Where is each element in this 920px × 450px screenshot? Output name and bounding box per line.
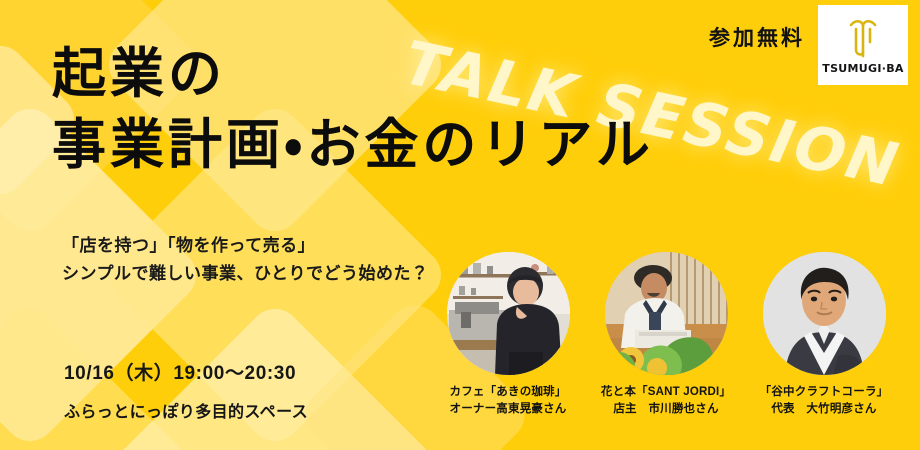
headline-line-2: 事業計画・お金のリアル [52, 117, 732, 174]
speaker-role-name: 代表 大竹明彦さん [760, 401, 889, 418]
speaker-org: 「谷中クラフトコーラ」 [760, 386, 889, 398]
event-venue: ふらっとにっぽり多目的スペース [64, 398, 308, 422]
speaker-caption: 「谷中クラフトコーラ」 代表 大竹明彦さん [760, 384, 889, 417]
lead-line-2: シンプルで難しい事業、ひとりでどう始めた？ [62, 260, 428, 288]
event-info: 10/16（木）19:00〜20:30 ふらっとにっぽり多目的スペース [64, 358, 308, 422]
lead-line-1: 「店を持つ」「物を作って売る」 [62, 232, 428, 260]
headline-line-1: 起業の [52, 46, 732, 103]
florist-photo [605, 252, 728, 375]
speaker-role-name: 店主 市川勝也さん [601, 401, 731, 418]
logo-wordmark: TSUMUGI·BA [822, 62, 903, 75]
event-poster: TALK SESSION 参加無料 TSUMUGI·BA 起業の 事業計画・お金… [0, 0, 920, 450]
lead-copy: 「店を持つ」「物を作って売る」 シンプルで難しい事業、ひとりでどう始めた？ [62, 232, 428, 287]
speaker-caption: 花と本「SANT JORDI」 店主 市川勝也さん [601, 384, 731, 417]
poster-headline: 起業の 事業計画・お金のリアル [52, 46, 732, 173]
business-portrait-photo [763, 252, 886, 375]
speaker-role-name: オーナー高東晃豪さん [450, 401, 567, 418]
cafe-owner-photo [447, 252, 570, 375]
tsumugi-thread-figure-icon [843, 16, 883, 60]
speaker-item: カフェ「あきの珈琲」 オーナー高東晃豪さん [438, 252, 578, 417]
speaker-list: カフェ「あきの珈琲」 オーナー高東晃豪さん [438, 252, 894, 417]
speaker-org: カフェ「あきの珈琲」 [450, 386, 567, 398]
speaker-org: 花と本「SANT JORDI」 [601, 386, 731, 398]
tsumugi-ba-logo: TSUMUGI·BA [818, 5, 908, 85]
event-datetime: 10/16（木）19:00〜20:30 [64, 358, 308, 385]
speaker-item: 「谷中クラフトコーラ」 代表 大竹明彦さん [754, 252, 894, 417]
speaker-caption: カフェ「あきの珈琲」 オーナー高東晃豪さん [450, 384, 567, 417]
speaker-item: 花と本「SANT JORDI」 店主 市川勝也さん [596, 252, 736, 417]
